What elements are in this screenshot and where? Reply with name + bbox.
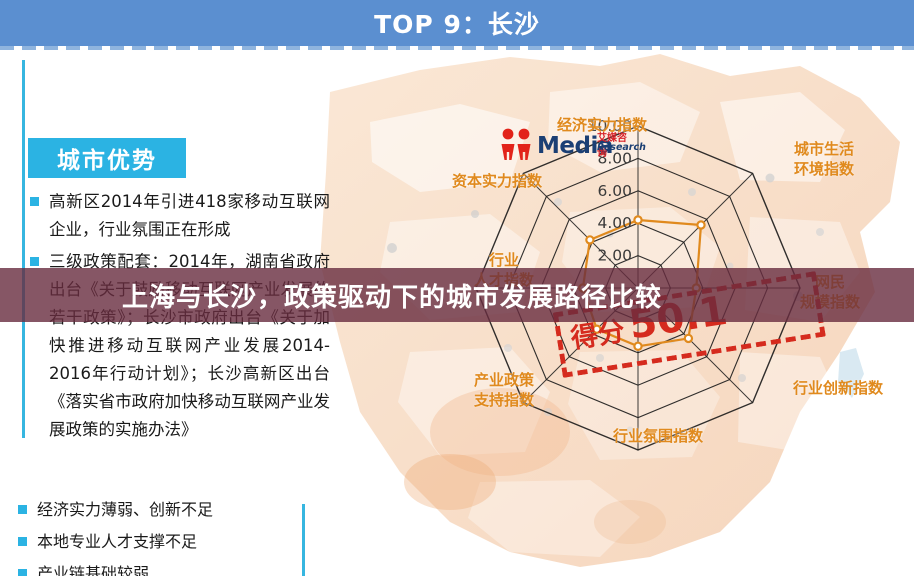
page-title: TOP 9：长沙 [374, 5, 540, 41]
header-dashed-underline [0, 46, 914, 50]
svg-text:6.00: 6.00 [597, 182, 632, 200]
bullet-square-icon [18, 537, 27, 546]
article-title-banner: 上海与长沙，政策驱动下的城市发展路径比较 [0, 268, 914, 322]
axis-label-industry-atmosphere: 行业氛围指数 [598, 427, 718, 446]
list-item-text: 产业链基础较弱 [37, 560, 338, 576]
axis-label-capital-strength: 资本实力指数 [432, 172, 562, 191]
bullet-square-icon [18, 569, 27, 576]
axis-label-industry-innovation: 行业创新指数 [778, 379, 898, 398]
logo-subtitle: Research [597, 142, 646, 153]
city-advantage-badge: 城市优势 [28, 138, 186, 178]
svg-text:2.00: 2.00 [597, 247, 632, 265]
city-advantage-badge-label: 城市优势 [57, 141, 157, 175]
list-item: 高新区2014年引进418家移动互联网企业，行业氛围正在形成 [30, 188, 330, 244]
bullet-square-icon [30, 257, 39, 266]
left-vertical-rule [22, 60, 25, 438]
iimedia-logo: Media 艾媒咨询 Research [497, 127, 633, 163]
iimedia-figures-icon [497, 127, 537, 161]
list-item-text: 本地专业人才支撑不足 [37, 528, 338, 556]
axis-label-city-life: 城市生活环境指数 [778, 139, 870, 179]
list-item: 本地专业人才支撑不足 [18, 528, 338, 556]
bullet-square-icon [30, 197, 39, 206]
list-item: 经济实力薄弱、创新不足 [18, 496, 338, 524]
slide-root: 2.004.006.008.0010.00 经济实力指数 城市生活环境指数 网民… [0, 0, 914, 576]
bullet-square-icon [18, 505, 27, 514]
list-item: 产业链基础较弱 [18, 560, 338, 576]
slide-header: TOP 9：长沙 [0, 0, 914, 46]
svg-text:4.00: 4.00 [597, 214, 632, 232]
article-title-text: 上海与长沙，政策驱动下的城市发展路径比较 [122, 277, 662, 314]
disadvantage-list: 经济实力薄弱、创新不足 本地专业人才支撑不足 产业链基础较弱 [18, 496, 338, 576]
list-item-text: 经济实力薄弱、创新不足 [37, 496, 338, 524]
list-item-text: 高新区2014年引进418家移动互联网企业，行业氛围正在形成 [49, 188, 330, 244]
axis-label-industry-policy: 产业政策支持指数 [458, 370, 550, 410]
